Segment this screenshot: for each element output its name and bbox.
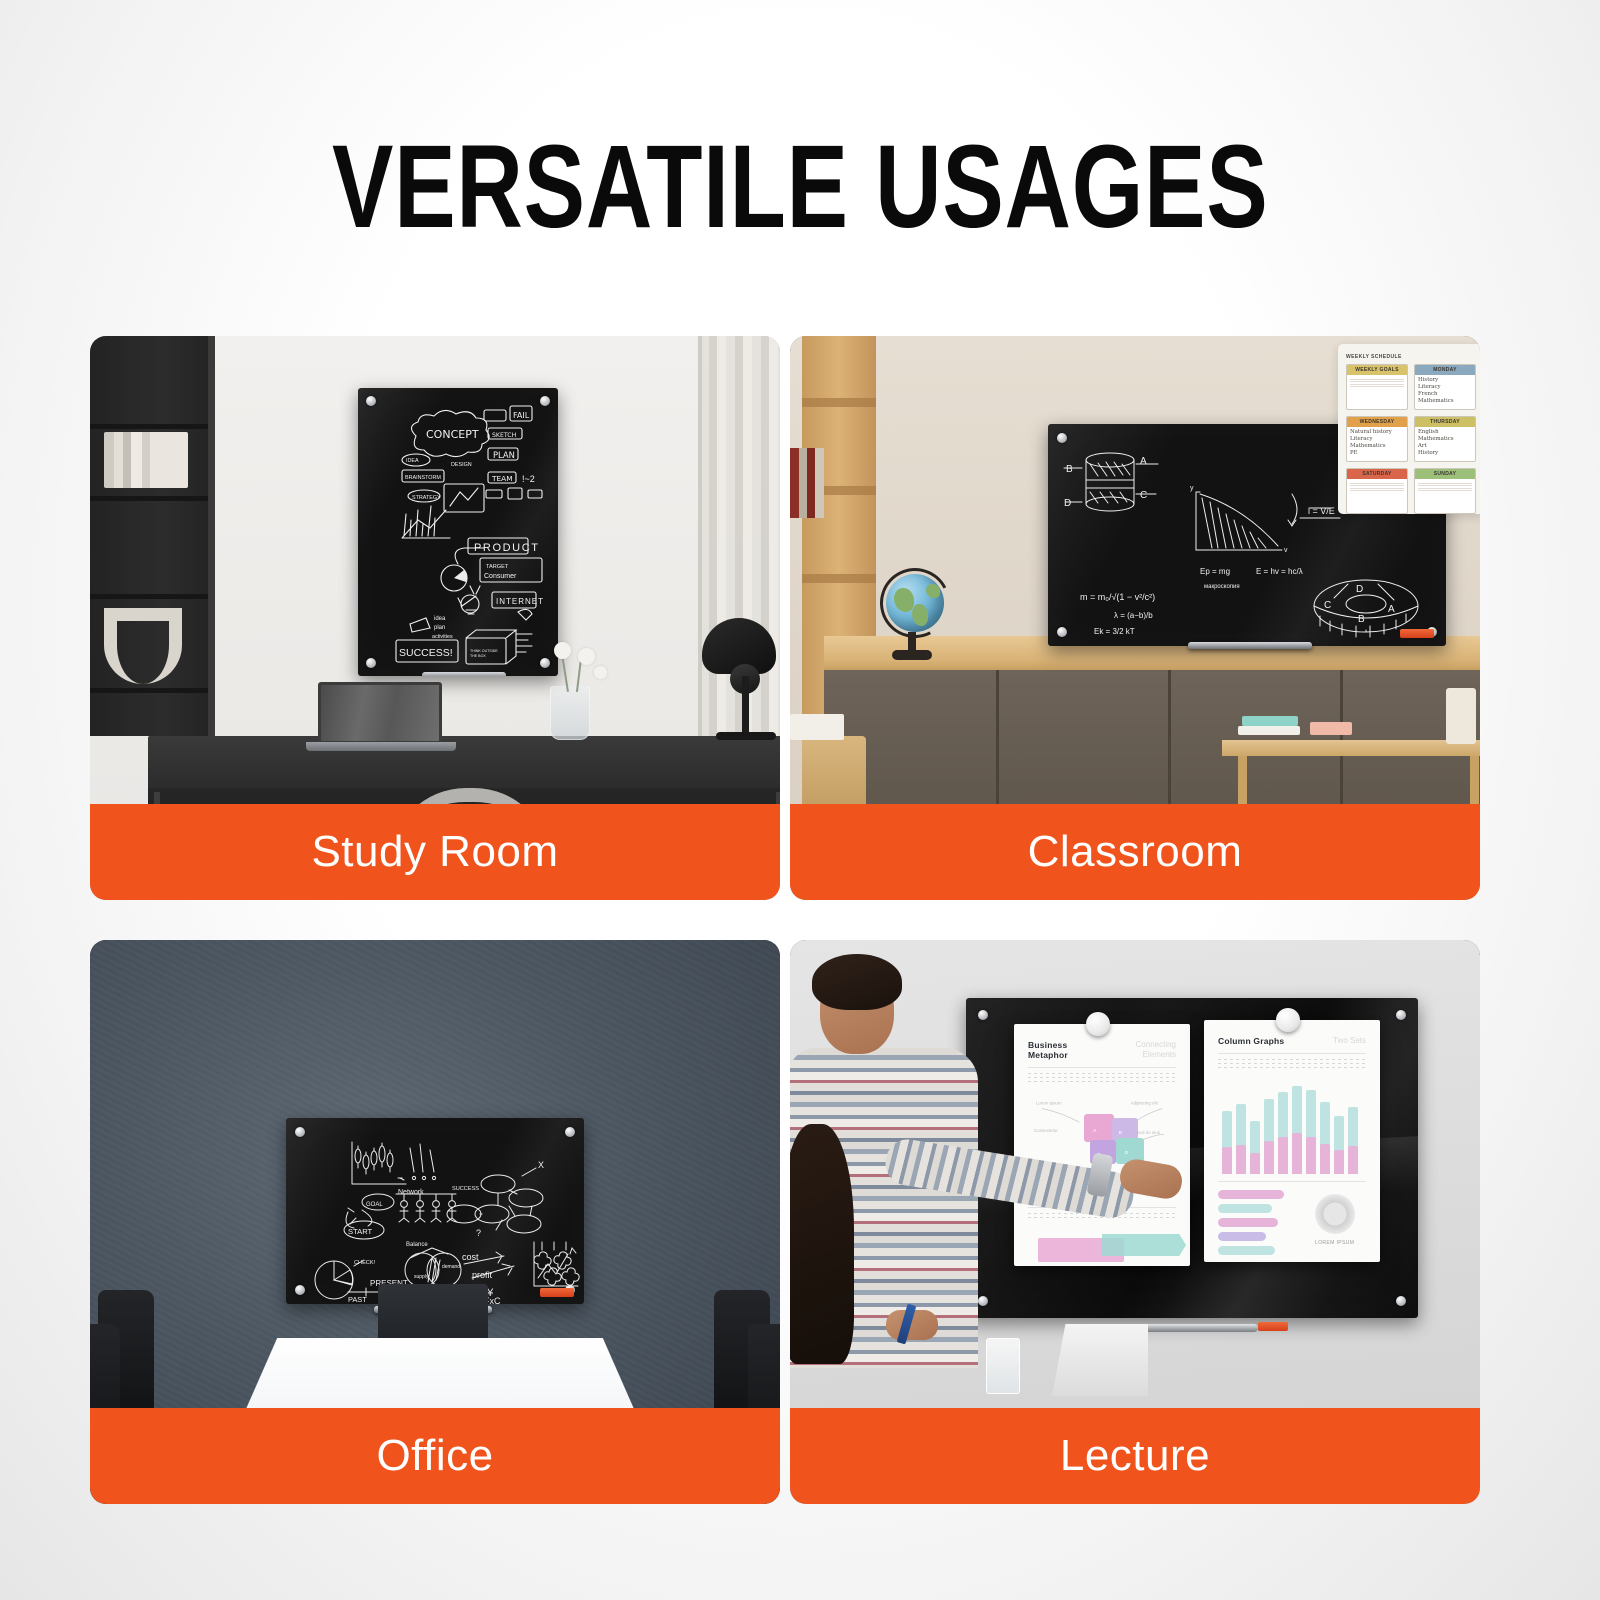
flower	[594, 666, 607, 679]
board-sketch-office: GOAL START Network SUCCESS X ? Balance s…	[286, 1118, 584, 1304]
schedule-cell: SUNDAY	[1414, 468, 1476, 514]
weekly-schedule-poster: WEEKLY SCHEDULE WEEKLY GOALS MONDAY Hist…	[1338, 344, 1480, 514]
schedule-entry: Literacy	[1350, 436, 1404, 443]
svg-text:SUCCESS!: SUCCESS!	[399, 647, 453, 659]
schedule-entry: Mathematics	[1350, 443, 1404, 450]
svg-text:demand: demand	[442, 1264, 460, 1270]
board-eraser[interactable]	[540, 1288, 574, 1297]
svg-text:A: A	[1388, 604, 1395, 615]
svg-text:D: D	[1125, 1150, 1129, 1156]
svg-text:cost: cost	[462, 1252, 479, 1262]
svg-text:D: D	[1356, 584, 1363, 595]
svg-text:profit: profit	[472, 1270, 493, 1280]
board-eraser[interactable]	[1400, 629, 1434, 638]
svg-text:Lorem ipsum: Lorem ipsum	[1036, 1101, 1062, 1106]
tile-caption-study-room: Study Room	[90, 804, 780, 900]
page-title-wrap: VERSATILE USAGES	[0, 128, 1600, 246]
glass-whiteboard-study[interactable]: CONCEPT FAIL SKETCH PLAN TEAM !~2 BRAINS…	[358, 388, 558, 676]
svg-text:SUCCESS: SUCCESS	[452, 1186, 479, 1192]
svg-text:THINK OUTSIDE: THINK OUTSIDE	[470, 649, 498, 653]
schedule-entry: PE	[1350, 450, 1404, 457]
poster-footer: LOREM IPSUM	[1303, 1240, 1366, 1246]
desk-lamp-base	[716, 732, 776, 740]
student-desk	[1222, 740, 1480, 756]
schedule-entry: Natural history	[1350, 429, 1404, 436]
svg-text:y: y	[1190, 485, 1194, 492]
svg-text:SKETCH: SKETCH	[492, 432, 517, 439]
product-feature-page: VERSATILE USAGES	[0, 0, 1600, 1600]
divider	[1218, 1181, 1366, 1182]
svg-text:X: X	[538, 1160, 544, 1170]
schedule-lines: English Mathematics Art History	[1415, 427, 1475, 459]
tile-caption-lecture: Lecture	[790, 1408, 1480, 1504]
shelf-divider	[90, 594, 210, 599]
magnet[interactable]	[1086, 1012, 1110, 1036]
caption-label: Lecture	[1060, 1431, 1210, 1481]
poster-business-metaphor[interactable]: Business Metaphor Connecting Elements	[1014, 1024, 1190, 1266]
poster-banner	[1028, 1234, 1176, 1266]
svg-text:Balance: Balance	[406, 1242, 428, 1248]
shelf-divider	[90, 688, 210, 693]
usage-tile-classroom[interactable]: A B C D y v l = V/E E = mc² Ep = mg E = …	[790, 336, 1480, 900]
page-title: VERSATILE USAGES	[332, 128, 1268, 246]
svg-text:l = V/E: l = V/E	[1308, 506, 1335, 516]
desk-lamp-arm	[742, 676, 749, 738]
divider	[1218, 1053, 1366, 1054]
schedule-lines	[1415, 479, 1475, 495]
svg-text:STRATEGY: STRATEGY	[412, 495, 441, 501]
svg-text:GOAL: GOAL	[366, 1202, 383, 1208]
schedule-cell: SATURDAY	[1346, 468, 1408, 514]
shelf-books	[790, 448, 824, 518]
divider	[1028, 1067, 1176, 1068]
poster-title: Column Graphs	[1218, 1036, 1284, 1046]
schedule-entry: Art	[1418, 443, 1472, 450]
marker-tray	[422, 672, 506, 676]
tile-caption-office: Office	[90, 1408, 780, 1504]
svg-text:Consumer: Consumer	[484, 573, 517, 580]
presenter-hair	[812, 954, 902, 1010]
svg-text:THE BOX: THE BOX	[470, 654, 486, 658]
poster-title: Business Metaphor	[1028, 1040, 1105, 1060]
svg-text:IDEA: IDEA	[406, 458, 419, 464]
magnet[interactable]	[1276, 1008, 1300, 1032]
head-chair	[378, 1284, 488, 1346]
mount-stud	[978, 1010, 988, 1020]
caption-label: Office	[376, 1431, 493, 1481]
poster-title: WEEKLY SCHEDULE	[1346, 354, 1476, 360]
schedule-day-header: THURSDAY	[1415, 417, 1475, 427]
svg-text:CHECK!: CHECK!	[354, 1260, 376, 1266]
schedule-lines: History Literacy French Mathematics	[1415, 375, 1475, 407]
svg-text:START: START	[348, 1227, 373, 1236]
shelf-divider	[90, 424, 210, 429]
schedule-cell: WEEKLY GOALS	[1346, 364, 1408, 410]
drinking-glass	[986, 1338, 1020, 1394]
globe-base	[892, 650, 932, 660]
svg-text:Sed do eius: Sed do eius	[1137, 1130, 1161, 1135]
svg-text:E = hv = hc/λ: E = hv = hc/λ	[1256, 567, 1303, 576]
schedule-day-header: MONDAY	[1415, 365, 1475, 375]
svg-text:supply: supply	[414, 1274, 429, 1280]
schedule-cell: WEDNESDAY Natural history Literacy Mathe…	[1346, 416, 1408, 462]
cabinet-divider	[996, 670, 999, 820]
svg-text:Consectetur: Consectetur	[1034, 1128, 1058, 1133]
usage-tile-office[interactable]: GOAL START Network SUCCESS X ? Balance s…	[90, 940, 780, 1504]
schedule-entry: History	[1418, 450, 1472, 457]
svg-text:B: B	[1119, 1130, 1123, 1136]
svg-text:DESIGN: DESIGN	[451, 462, 472, 468]
usage-tile-grid: CONCEPT FAIL SKETCH PLAN TEAM !~2 BRAINS…	[90, 336, 1480, 1504]
flower	[578, 648, 595, 665]
svg-text:plan: plan	[434, 625, 445, 631]
schedule-entry: French	[1418, 391, 1472, 398]
book	[1238, 726, 1300, 735]
svg-text:Ek = 3/2 kT: Ek = 3/2 kT	[1094, 627, 1135, 636]
svg-text:макроскопия: макроскопия	[1204, 584, 1240, 590]
svg-text:activities: activities	[432, 634, 453, 640]
svg-text:CONCEPT: CONCEPT	[426, 428, 479, 441]
desk-top	[148, 736, 780, 792]
laptop-screen	[318, 682, 442, 744]
svg-text:FAIL: FAIL	[513, 411, 530, 420]
svg-text:idea: idea	[434, 616, 446, 622]
schedule-lines	[1347, 479, 1407, 495]
svg-text:A: A	[1093, 1128, 1097, 1134]
schedule-day-header: WEDNESDAY	[1347, 417, 1407, 427]
schedule-lines: Natural history Literacy Mathematics PE	[1347, 427, 1407, 459]
book	[1242, 716, 1298, 726]
schedule-day-header: SUNDAY	[1415, 469, 1475, 479]
board-sketch-study: CONCEPT FAIL SKETCH PLAN TEAM !~2 BRAINS…	[358, 388, 558, 676]
glass-whiteboard-office[interactable]: GOAL START Network SUCCESS X ? Balance s…	[286, 1118, 584, 1304]
caption-label: Study Room	[311, 827, 558, 877]
schedule-cell: MONDAY History Literacy French Mathemati…	[1414, 364, 1476, 410]
flower	[554, 642, 571, 659]
schedule-cell: THURSDAY English Mathematics Art History	[1414, 416, 1476, 462]
shelf-edge	[208, 336, 215, 736]
svg-text:?: ?	[476, 1228, 481, 1238]
svg-text:PRODUCT: PRODUCT	[474, 542, 540, 554]
svg-text:C: C	[1324, 600, 1331, 611]
svg-text:PAST: PAST	[348, 1295, 367, 1304]
usage-tile-lecture[interactable]: Business Metaphor Connecting Elements	[790, 940, 1480, 1504]
poster-column-graphs[interactable]: Column Graphs Two Sets	[1204, 1020, 1380, 1262]
svg-text:D: D	[1064, 498, 1071, 509]
paper-stack	[790, 714, 844, 740]
audience-member-hair	[790, 1124, 854, 1364]
schedule-entry: Mathematics	[1418, 398, 1472, 405]
svg-text:C: C	[1140, 490, 1147, 501]
tile-caption-classroom: Classroom	[790, 804, 1480, 900]
bar-chart	[1218, 1078, 1366, 1174]
schedule-lines	[1347, 375, 1407, 391]
svg-text:TARGET: TARGET	[486, 564, 509, 570]
svg-text:A: A	[1140, 456, 1147, 467]
poster-grid: WEEKLY GOALS MONDAY History Literacy Fre…	[1346, 364, 1476, 514]
schedule-day-header: WEEKLY GOALS	[1347, 365, 1407, 375]
svg-text:INTERNET: INTERNET	[496, 597, 544, 606]
svg-text:λ = (a−b)/b: λ = (a−b)/b	[1114, 611, 1153, 620]
book	[1310, 722, 1352, 735]
svg-text:!~2: !~2	[522, 474, 535, 484]
laptop	[1052, 1324, 1148, 1396]
caption-label: Classroom	[1028, 827, 1243, 877]
ladder-rung	[802, 398, 876, 407]
schedule-entry: Literacy	[1418, 384, 1472, 391]
usage-tile-study-room[interactable]: CONCEPT FAIL SKETCH PLAN TEAM !~2 BRAINS…	[90, 336, 780, 900]
schedule-entry: English	[1418, 429, 1472, 436]
schedule-entry: Mathematics	[1418, 436, 1472, 443]
svg-text:v: v	[1284, 547, 1288, 554]
mount-stud	[1396, 1010, 1406, 1020]
shelf-divider	[90, 496, 210, 501]
cabinet-divider	[1168, 670, 1171, 820]
mount-stud	[1396, 1296, 1406, 1306]
svg-text:BRAINSTORM: BRAINSTORM	[405, 475, 441, 481]
marker-tray	[1188, 642, 1312, 649]
poster-lower-block: LOREM IPSUM	[1218, 1190, 1366, 1260]
svg-text:m = m₀/√(1 − v²/c²): m = m₀/√(1 − v²/c²)	[1080, 592, 1155, 602]
u-sculpture	[104, 608, 182, 684]
poster-subtitle: Two Sets	[1333, 1036, 1366, 1046]
mount-stud	[978, 1296, 988, 1306]
poster-subtitle: Connecting Elements	[1105, 1040, 1176, 1060]
ladder-rung	[802, 574, 876, 583]
flower-vase	[550, 686, 590, 740]
svg-text:Adipiscing elit: Adipiscing elit	[1131, 1101, 1159, 1106]
schedule-day-header: SATURDAY	[1347, 469, 1407, 479]
paper-roll	[1446, 688, 1476, 744]
books	[104, 432, 188, 488]
svg-text:PLAN: PLAN	[493, 450, 515, 460]
svg-text:B: B	[1066, 464, 1073, 475]
board-eraser[interactable]	[1258, 1322, 1288, 1331]
schedule-entry: History	[1418, 377, 1472, 384]
svg-text:Ep = mg: Ep = mg	[1200, 567, 1230, 576]
svg-text:Network: Network	[398, 1189, 424, 1196]
svg-text:TEAM: TEAM	[491, 474, 513, 483]
laptop-keyboard	[306, 742, 456, 751]
svg-text:B: B	[1358, 614, 1365, 625]
